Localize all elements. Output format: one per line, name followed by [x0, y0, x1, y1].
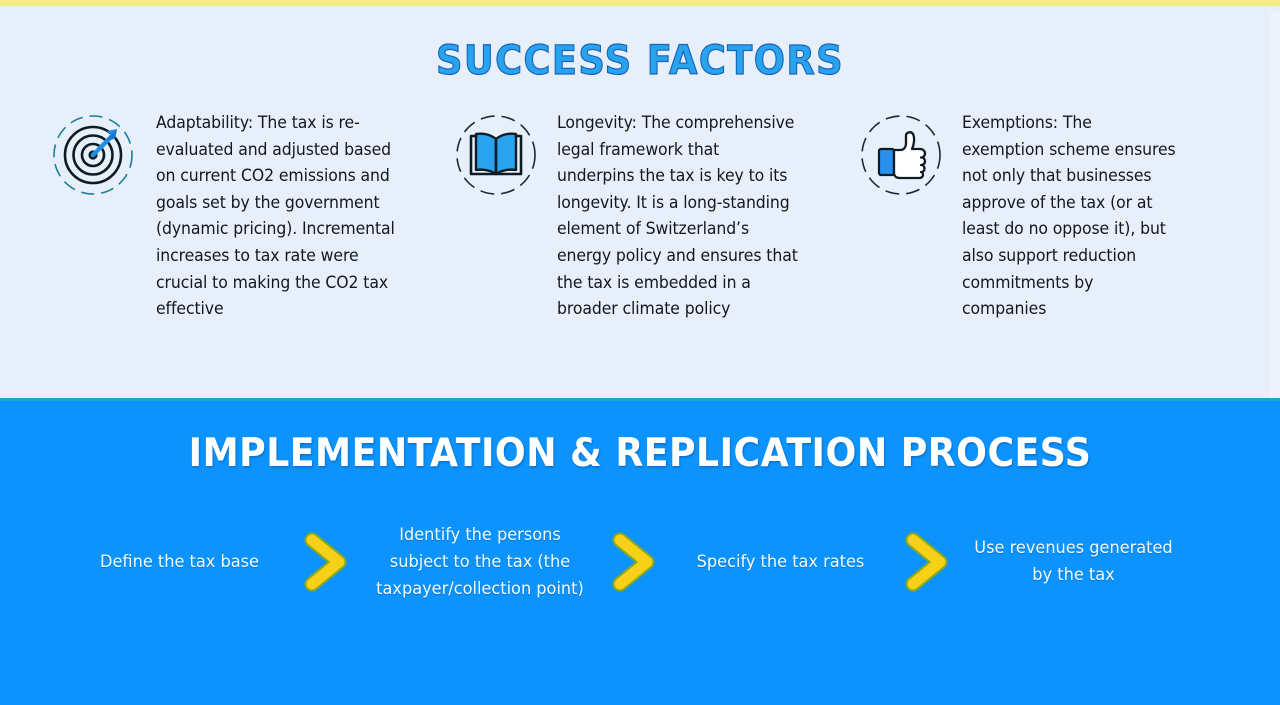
process-step-1: Define the tax base [77, 549, 281, 576]
chevron-right-icon [595, 531, 673, 593]
thumbs-up-icon [858, 112, 944, 198]
process-step-4: Use revenues generated by the tax [971, 535, 1175, 589]
success-factors-title: SUCCESS FACTORS [51, 38, 1229, 84]
chevron-right-icon [888, 531, 966, 593]
open-book-icon [453, 112, 539, 198]
implementation-section: IMPLEMENTATION & REPLICATION PROCESS Def… [0, 401, 1280, 705]
implementation-title: IMPLEMENTATION & REPLICATION PROCESS [45, 431, 1235, 476]
success-card-exemptions: Exemptions: The exemption scheme ensures… [858, 110, 1188, 323]
success-card-text: Exemptions: The exemption scheme ensures… [962, 110, 1177, 323]
process-step-2: Identify the persons subject to the tax … [371, 522, 590, 603]
process-flow: Define the tax base Identify the persons… [0, 507, 1280, 617]
infographic-slide: SUCCESS FACTORS Adaptabilit [0, 0, 1280, 705]
chevron-right-icon [287, 531, 365, 593]
success-card-text: Longevity: The comprehensive legal frame… [557, 110, 800, 323]
success-factors-section: SUCCESS FACTORS Adaptabilit [0, 6, 1280, 400]
success-factors-cards: Adaptability: The tax is re-evaluated an… [0, 110, 1280, 323]
process-step-3: Specify the tax rates [678, 549, 882, 576]
success-card-text: Adaptability: The tax is re-evaluated an… [156, 110, 402, 323]
success-card-adaptability: Adaptability: The tax is re-evaluated an… [50, 110, 415, 323]
target-dart-icon [50, 112, 136, 198]
success-card-longevity: Longevity: The comprehensive legal frame… [453, 110, 813, 323]
